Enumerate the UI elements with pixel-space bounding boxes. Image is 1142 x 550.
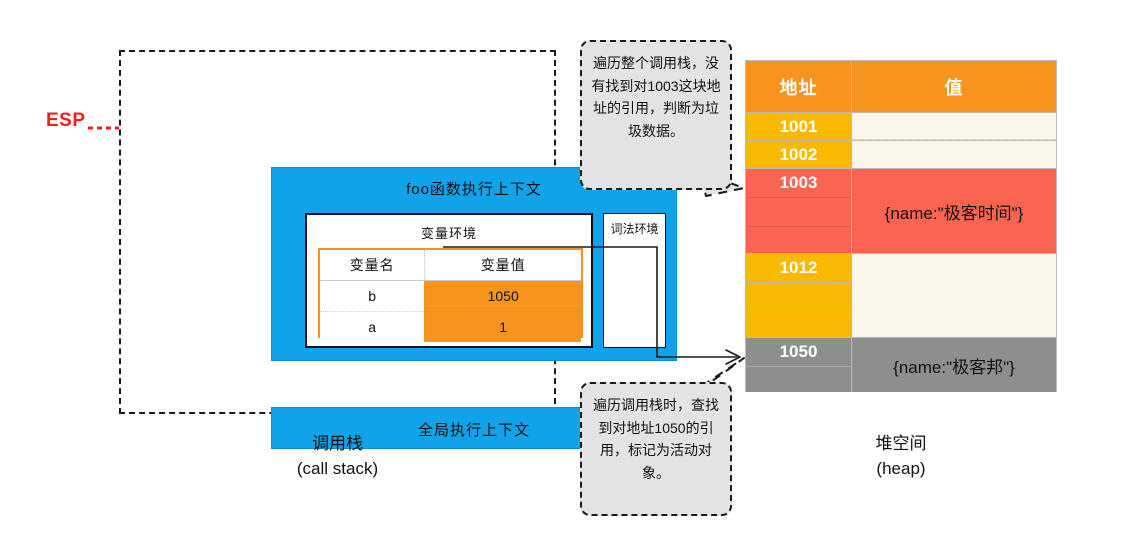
heap-address-1003-pad-1 — [746, 198, 851, 227]
lexical-environment-title: 词法环境 — [604, 220, 665, 237]
heap-caption-cn: 堆空间 — [876, 434, 927, 453]
diagram-canvas: ESP foo函数执行上下文 变量环境 变量名 变量值 b — [0, 0, 1142, 550]
call-stack-caption-en: (call stack) — [119, 457, 556, 482]
variable-name-b: b — [320, 281, 425, 312]
variable-environment-title: 变量环境 — [307, 223, 591, 242]
heap-block-1003: 1003 {name:"极客时间"} — [746, 169, 1056, 253]
variable-name-a: a — [320, 312, 425, 343]
heap-col-address: 地址 — [746, 61, 852, 112]
heap-value-1001 — [852, 113, 1056, 140]
variable-table-col-value: 变量值 — [425, 250, 581, 281]
heap-row-1002: 1002 — [746, 141, 1056, 169]
variable-table-col-name: 变量名 — [320, 250, 425, 281]
foo-execution-context: foo函数执行上下文 变量环境 变量名 变量值 b 1050 — [271, 167, 677, 361]
call-stack-caption: 调用栈 (call stack) — [119, 432, 556, 481]
heap-col-value: 值 — [852, 61, 1056, 112]
heap-address-1012: 1012 — [746, 254, 851, 283]
heap-address-1003-pad-2 — [746, 227, 851, 254]
heap-table: 地址 值 1001 1002 1003 {name:"极客时间"} 1012 — [745, 60, 1057, 392]
callout-garbage-note: 遍历整个调用栈，没有找到对1003这块地址的引用，判断为垃圾数据。 — [580, 40, 732, 190]
heap-value-1050: {name:"极客邦"} — [852, 338, 1056, 392]
heap-address-1003: 1003 — [746, 169, 851, 198]
variable-environment-box: 变量环境 变量名 变量值 b 1050 a 1 — [305, 213, 593, 348]
variable-table-row: b 1050 — [320, 281, 581, 312]
lexical-environment-box: 词法环境 — [603, 213, 666, 348]
heap-address-1050: 1050 — [746, 338, 851, 367]
variable-table-header-row: 变量名 变量值 — [320, 250, 581, 281]
heap-address-1050-pad-1 — [746, 367, 851, 393]
heap-address-1002: 1002 — [746, 141, 852, 168]
heap-address-1012-pad-2 — [746, 312, 851, 338]
call-stack-caption-cn: 调用栈 — [312, 434, 363, 453]
heap-caption-en: (heap) — [745, 457, 1057, 482]
heap-value-1003: {name:"极客时间"} — [852, 169, 1056, 253]
variable-table-row: a 1 — [320, 312, 581, 343]
call-stack-container: foo函数执行上下文 变量环境 变量名 变量值 b 1050 — [119, 50, 556, 414]
heap-block-1050: 1050 {name:"极客邦"} — [746, 337, 1056, 392]
heap-block-1012: 1012 — [746, 253, 1056, 337]
callout-active-note: 遍历调用栈时，查找到对地址1050的引用，标记为活动对象。 — [580, 382, 732, 516]
heap-value-1012 — [852, 254, 1056, 337]
heap-caption: 堆空间 (heap) — [745, 432, 1057, 481]
heap-header-row: 地址 值 — [746, 61, 1056, 113]
heap-address-1012-pad-1 — [746, 283, 851, 312]
variable-value-b: 1050 — [425, 281, 581, 312]
variable-value-a: 1 — [425, 312, 581, 343]
heap-row-1001: 1001 — [746, 113, 1056, 141]
heap-address-1001: 1001 — [746, 113, 852, 140]
esp-label: ESP — [46, 110, 86, 132]
variable-table: 变量名 变量值 b 1050 a 1 — [318, 248, 583, 338]
reference-connector-arrowhead — [726, 350, 740, 364]
heap-value-1002 — [852, 141, 1056, 168]
